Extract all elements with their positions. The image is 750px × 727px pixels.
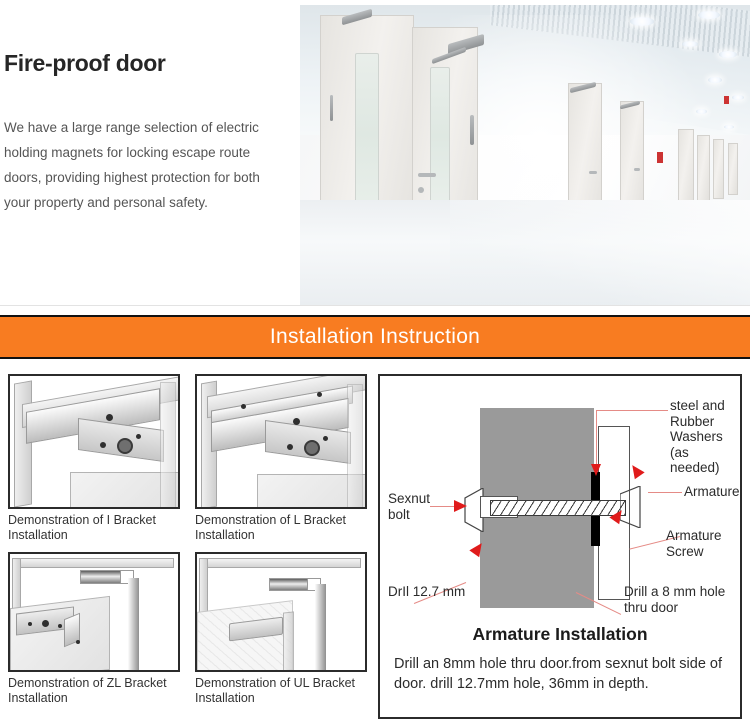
ceiling-light [698,11,720,19]
armature-title: Armature Installation [380,624,740,645]
ul-bracket-diagram [195,552,367,672]
label-armature: Armature [684,484,742,500]
thumbnail-zl-bracket[interactable]: Demonstration of ZL Bracket Installation [8,552,180,706]
thumbnail-caption: Demonstration of L Bracket Installation [195,513,367,543]
ceiling-light [630,17,654,26]
armature-body: Drill an 8mm hole thru door.from sexnut … [394,654,730,694]
label-drill-8mm: Drill a 8 mm hole thru door [624,584,728,615]
ceiling-light [719,51,737,58]
door-handle [589,171,597,174]
fire-door-handle [418,173,436,177]
door-hinge [330,95,333,121]
corridor-door-far [678,129,694,209]
photo-floor-reflection [450,200,750,305]
page-title: Fire-proof door [4,50,166,77]
screw-countersink [620,486,642,528]
leader-armature [648,492,682,493]
installation-banner: Installation Instruction [0,315,750,359]
intro-block: Fire-proof door We have a large range se… [0,0,295,311]
arrow-washers [591,464,601,476]
ceiling-light [696,109,707,114]
wall-marker [657,152,663,163]
i-bracket-diagram [8,374,180,509]
corridor-door-far [713,139,724,199]
section-divider [0,305,750,306]
ceiling-light [682,41,698,47]
arrow-sexnut [454,500,467,512]
leader-washers-drop [596,410,597,468]
label-sexnut-bolt: Sexnut bolt [388,491,432,522]
thumbnail-caption: Demonstration of UL Bracket Installation [195,676,367,706]
ceiling-light [732,95,744,100]
washer-lower [591,516,600,546]
hero-section: Fire-proof door We have a large range se… [0,0,750,311]
corridor-photo: EXIT [300,5,750,305]
zl-bracket-diagram [8,552,180,672]
thumbnail-l-bracket[interactable]: Demonstration of L Bracket Installation [195,374,367,543]
intro-paragraph: We have a large range selection of elect… [4,115,282,215]
thumbnail-i-bracket[interactable]: Demonstration of I Bracket Installation [8,374,180,543]
leader-washers [596,410,668,411]
door-handle [634,168,640,171]
armature-installation-panel: steel and Rubber Washers (as needed) Arm… [378,374,742,719]
bracket-thumbnail-grid: Demonstration of I Bracket Installation [8,374,368,719]
corridor-door-far [697,135,710,203]
ceiling-light [708,77,722,83]
label-armature-screw: Armature Screw [666,528,736,559]
door-hinge [470,115,474,145]
thumbnail-ul-bracket[interactable]: Demonstration of UL Bracket Installation [195,552,367,706]
page-root: Fire-proof door We have a large range se… [0,0,750,727]
armature-screw-shaft [490,500,626,516]
thumbnail-caption: Demonstration of I Bracket Installation [8,513,180,543]
wall-marker [724,96,729,104]
washer-upper [591,472,600,502]
banner-title: Installation Instruction [270,325,480,349]
leader-sexnut [430,506,456,507]
l-bracket-diagram [195,374,367,509]
fire-door-lock [418,187,424,193]
ceiling-light [724,125,734,129]
corridor-door-far [728,143,738,195]
thumbnail-caption: Demonstration of ZL Bracket Installation [8,676,180,706]
label-washers: steel and Rubber Washers (as needed) [670,398,736,476]
instruction-section: Demonstration of I Bracket Installation [0,362,750,727]
label-drill-127: DrIl 12.7 mm [388,584,498,600]
